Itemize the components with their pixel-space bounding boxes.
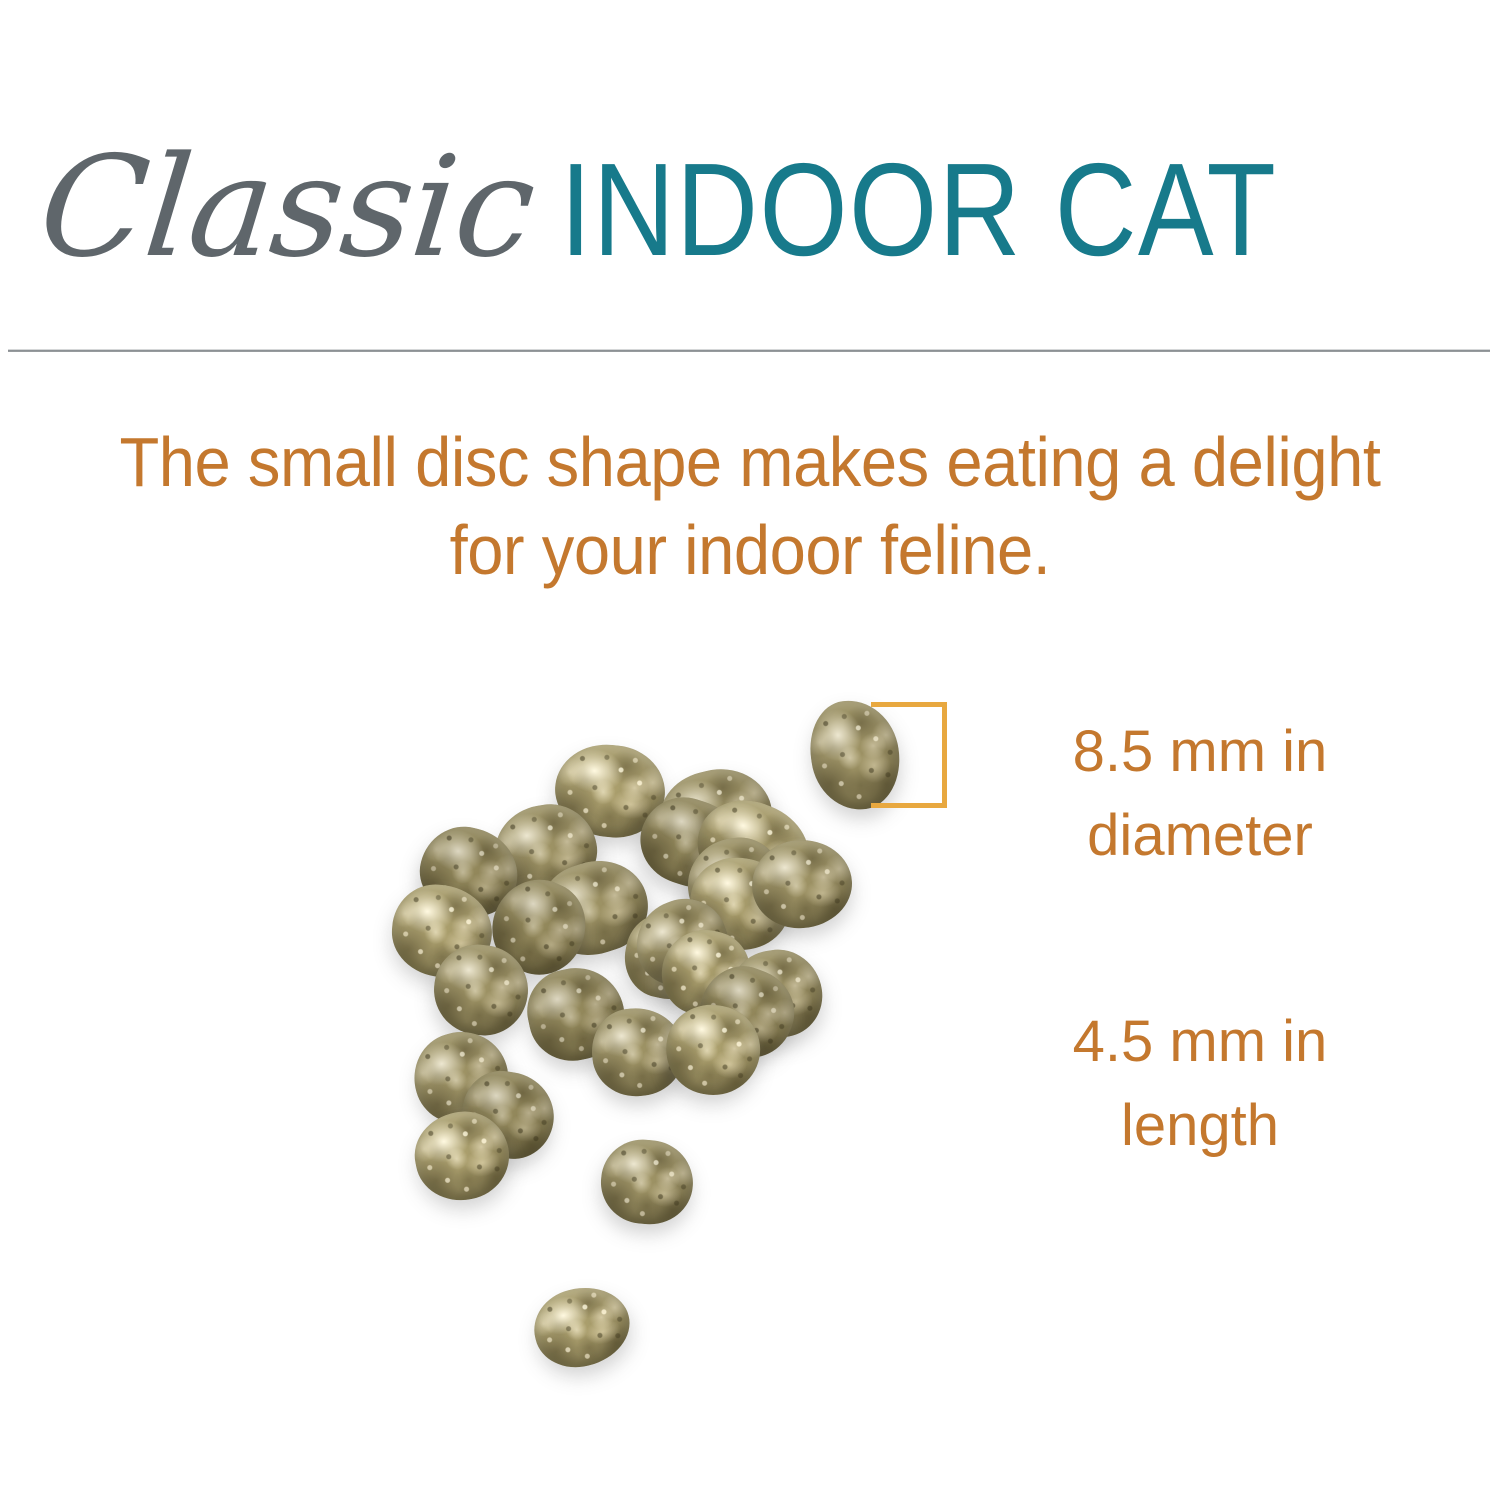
kibble-piece bbox=[658, 997, 767, 1103]
kibble-piece bbox=[683, 833, 789, 939]
kibble-piece bbox=[456, 1065, 560, 1164]
kibble-piece bbox=[688, 955, 806, 1070]
kibble-piece bbox=[428, 939, 534, 1041]
callout-diameter-line-1: 8.5 mm in bbox=[990, 710, 1410, 794]
kibble-piece bbox=[403, 1021, 518, 1133]
kibble-piece bbox=[724, 943, 829, 1044]
kibble-piece bbox=[683, 850, 797, 958]
kibble-piece bbox=[598, 1136, 697, 1228]
header-divider bbox=[8, 349, 1490, 352]
callout-diameter: 8.5 mm in diameter bbox=[990, 710, 1410, 877]
kibble-piece bbox=[526, 1278, 638, 1377]
page-title: Classic INDOOR CAT bbox=[34, 138, 1474, 308]
kibble-piece bbox=[407, 1104, 516, 1208]
subtitle: The small disc shape makes eating a deli… bbox=[99, 418, 1401, 594]
kibble-piece bbox=[749, 837, 855, 932]
kibble-piece bbox=[478, 865, 600, 988]
measurement-bracket-icon bbox=[871, 702, 947, 808]
callout-length: 4.5 mm in length bbox=[990, 1000, 1410, 1167]
kibble-piece bbox=[528, 848, 659, 969]
kibble-piece bbox=[651, 758, 782, 874]
kibble-piece bbox=[617, 907, 721, 1007]
infographic-page: Classic INDOOR CAT The small disc shape … bbox=[0, 0, 1500, 1500]
kibble-piece bbox=[550, 740, 669, 843]
callout-length-line-2: length bbox=[990, 1084, 1410, 1168]
kibble-piece bbox=[629, 786, 754, 900]
callout-length-line-1: 4.5 mm in bbox=[990, 1000, 1410, 1084]
kibble-piece bbox=[624, 887, 740, 999]
kibble-piece bbox=[804, 694, 906, 815]
kibble-piece bbox=[389, 882, 495, 981]
title-script-word: Classic bbox=[34, 138, 546, 277]
title-product-name: INDOOR CAT bbox=[560, 144, 1277, 276]
kibble-piece bbox=[488, 797, 604, 905]
kibble-piece bbox=[652, 920, 760, 1027]
kibble-piece bbox=[588, 1003, 689, 1100]
subtitle-line-2: for your indoor feline. bbox=[99, 506, 1401, 594]
header: Classic INDOOR CAT bbox=[0, 0, 1500, 360]
subtitle-line-1: The small disc shape makes eating a deli… bbox=[99, 418, 1401, 506]
callout-diameter-line-2: diameter bbox=[990, 794, 1410, 878]
kibble-piece bbox=[411, 817, 527, 926]
kibble-piece bbox=[683, 785, 824, 915]
kibble-piece bbox=[519, 959, 632, 1069]
